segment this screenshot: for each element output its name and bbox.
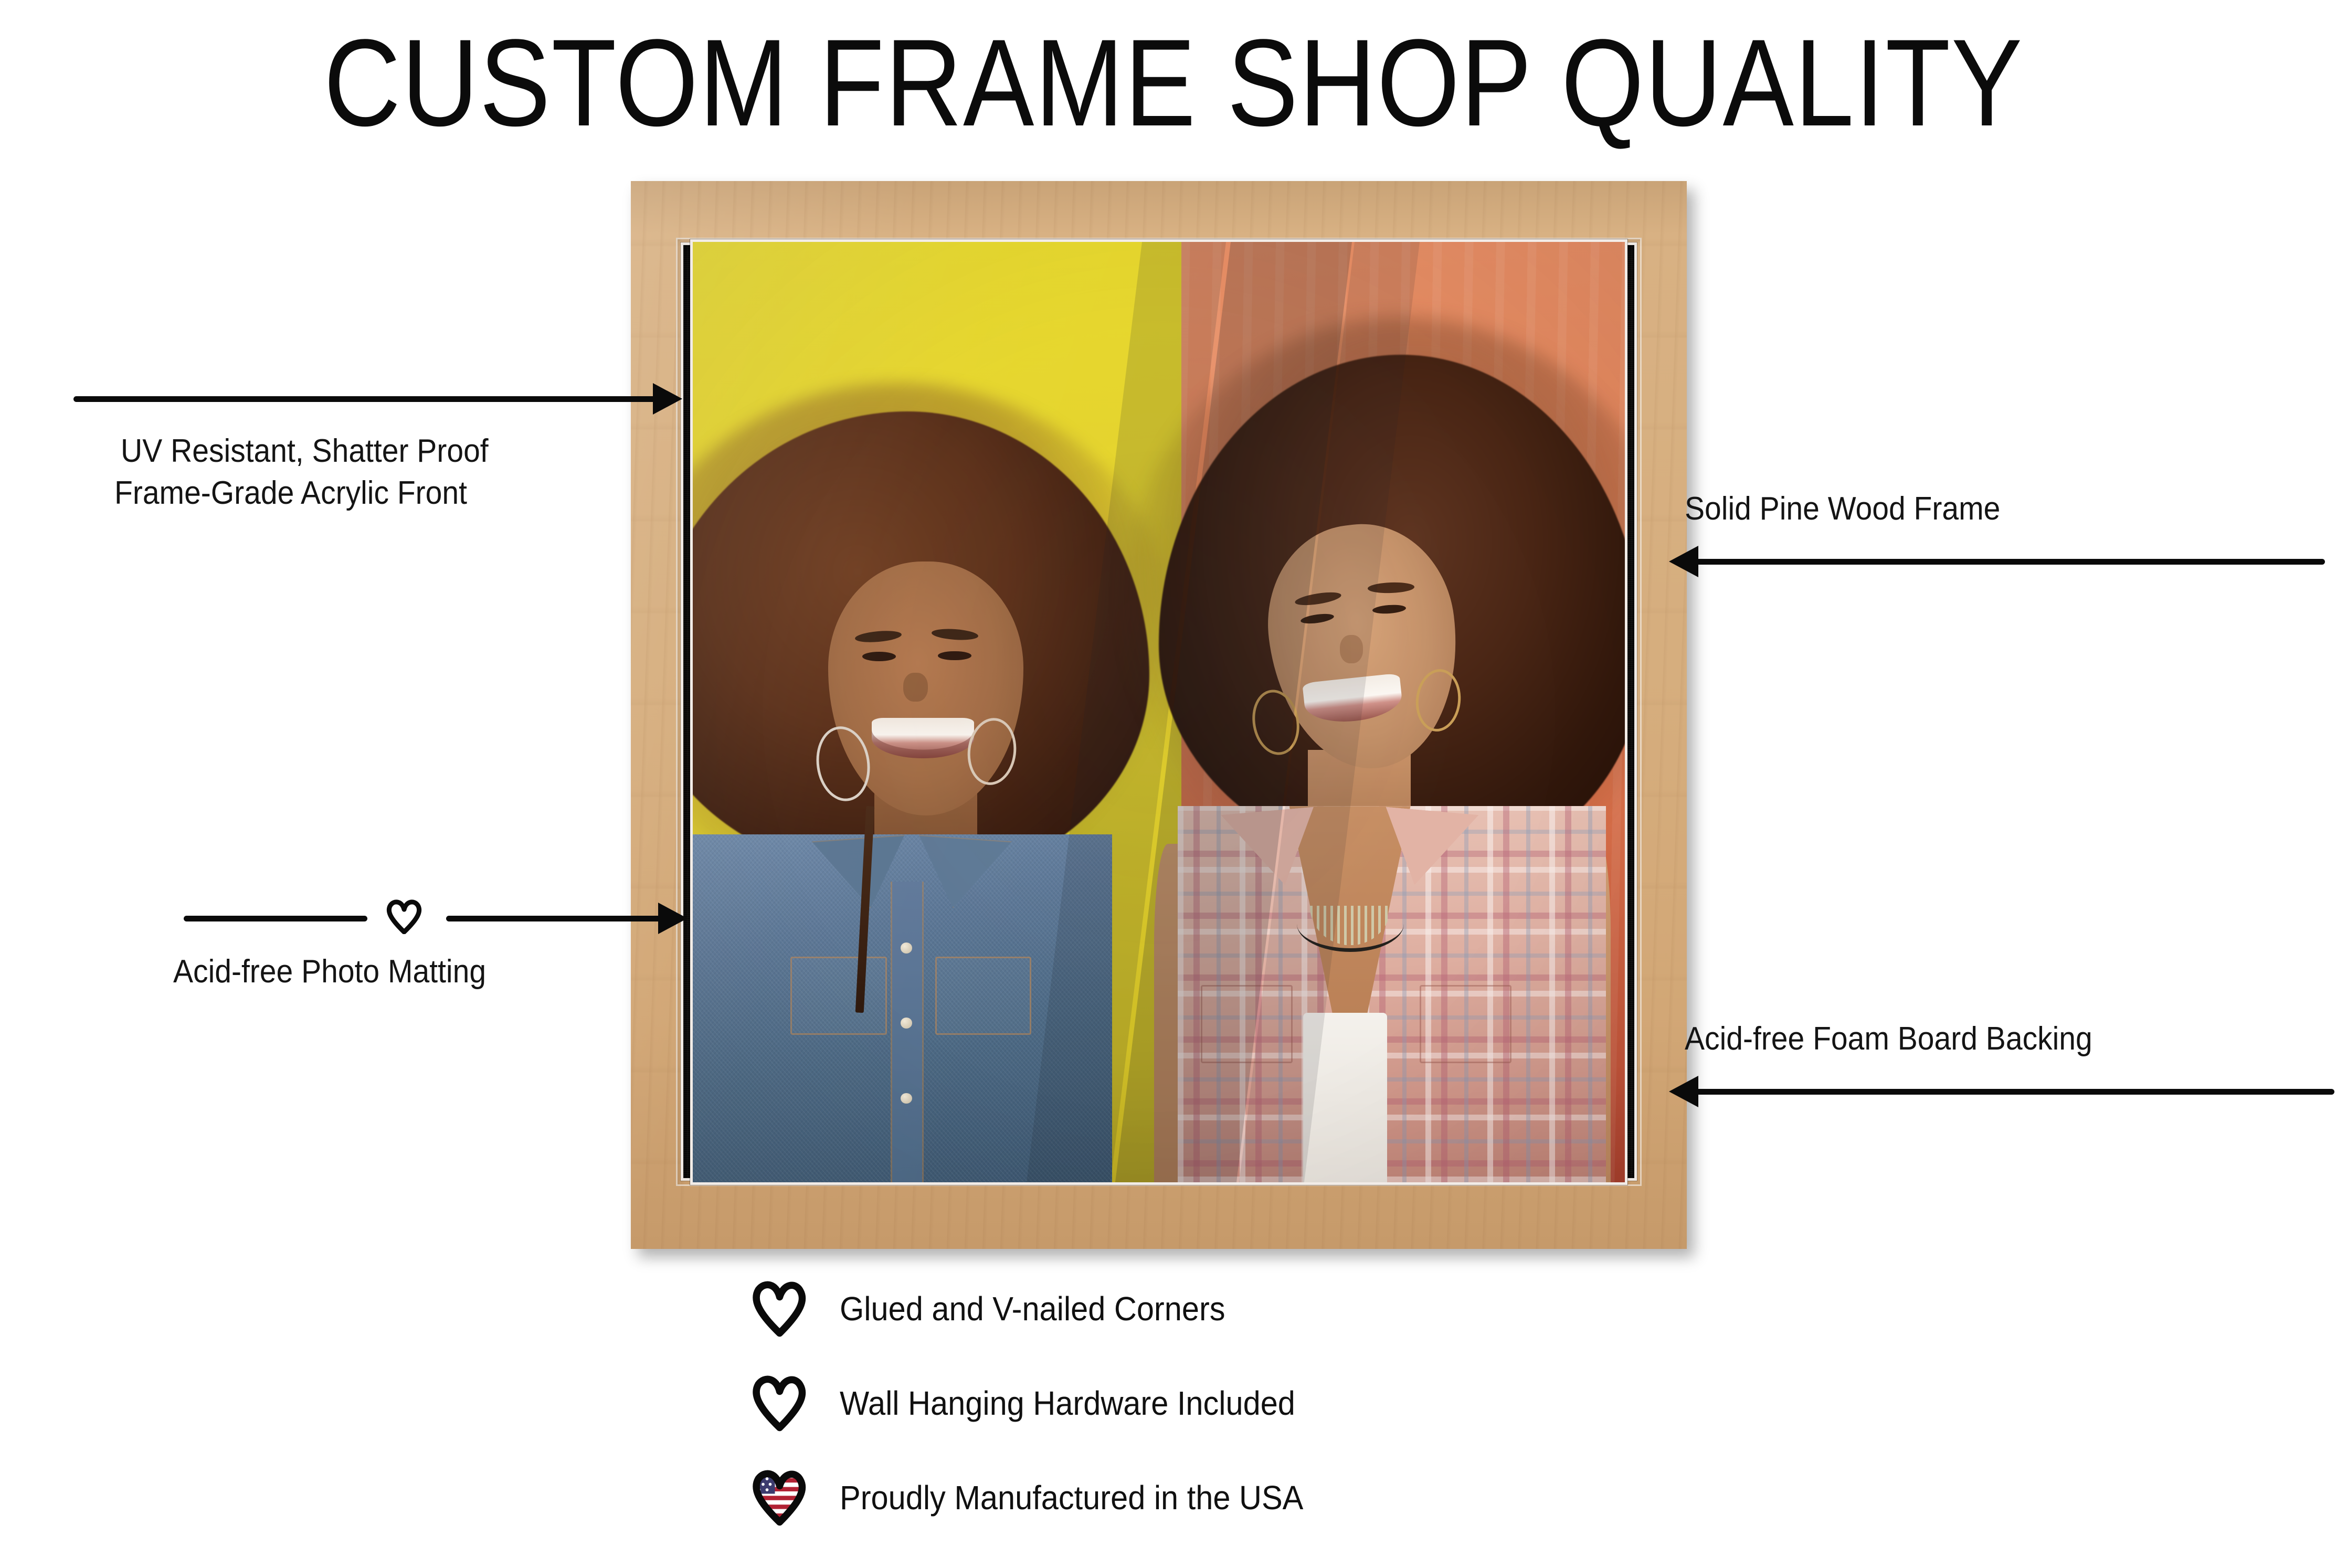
arrow-to-pine-frame bbox=[1669, 551, 2325, 572]
arrow-head-icon bbox=[653, 383, 682, 415]
feature-label: Glued and V-nailed Corners bbox=[840, 1292, 1225, 1326]
right-subject-white-tank-top bbox=[1303, 1013, 1387, 1182]
left-subject-nose bbox=[903, 673, 927, 702]
heart-usa-flag-icon bbox=[750, 1469, 807, 1526]
arrow-to-foam-backing bbox=[1669, 1081, 2334, 1102]
left-subject-smile bbox=[872, 718, 974, 758]
arrow-head-icon bbox=[658, 903, 688, 934]
arrow-shaft bbox=[1695, 559, 2325, 565]
heart-icon bbox=[750, 1280, 807, 1337]
right-subject-nose bbox=[1340, 635, 1363, 663]
arrow-to-acrylic-front bbox=[73, 388, 682, 409]
feature-item-made-in-usa: Proudly Manufactured in the USA bbox=[750, 1464, 1800, 1531]
arrow-head-icon bbox=[1669, 1076, 1698, 1107]
right-subject-pocket-left bbox=[1201, 985, 1293, 1063]
arrow-head-icon bbox=[1669, 546, 1698, 577]
arrow-shaft bbox=[73, 396, 656, 402]
photograph bbox=[693, 242, 1625, 1182]
feature-label: Wall Hanging Hardware Included bbox=[840, 1386, 1295, 1420]
left-subject-shirt-placket bbox=[892, 882, 922, 1182]
left-subject-pocket-left bbox=[790, 957, 887, 1035]
annotation-label-acrylic-front-line1: UV Resistant, Shatter Proof bbox=[121, 430, 489, 473]
feature-label: Proudly Manufactured in the USA bbox=[840, 1481, 1303, 1514]
left-subject-pocket-right bbox=[935, 957, 1032, 1035]
right-subject-pocket-right bbox=[1420, 985, 1511, 1063]
annotation-label-acrylic-front-line2: Frame-Grade Acrylic Front bbox=[114, 472, 467, 515]
annotation-label-foam-backing: Acid-free Foam Board Backing bbox=[1685, 1018, 2092, 1061]
arrow-shaft-right bbox=[446, 916, 661, 921]
feature-list: Glued and V-nailed Corners Wall Hanging … bbox=[750, 1275, 1800, 1559]
framed-photo-product bbox=[631, 181, 1687, 1249]
arrow-shaft bbox=[1695, 1089, 2334, 1095]
page-title: CUSTOM FRAME SHOP QUALITY bbox=[164, 21, 2183, 145]
annotation-label-pine-frame: Solid Pine Wood Frame bbox=[1685, 488, 2000, 531]
heart-icon bbox=[386, 899, 422, 934]
feature-item-glued-corners: Glued and V-nailed Corners bbox=[750, 1275, 1800, 1342]
feature-item-wall-hardware: Wall Hanging Hardware Included bbox=[750, 1370, 1800, 1437]
heart-icon bbox=[750, 1375, 807, 1432]
annotation-label-photo-matting: Acid-free Photo Matting bbox=[173, 951, 486, 993]
shirt-button bbox=[901, 942, 912, 953]
arrow-to-photo-matting bbox=[184, 908, 688, 929]
photo-window bbox=[690, 239, 1627, 1185]
arrow-shaft-left bbox=[184, 916, 367, 921]
